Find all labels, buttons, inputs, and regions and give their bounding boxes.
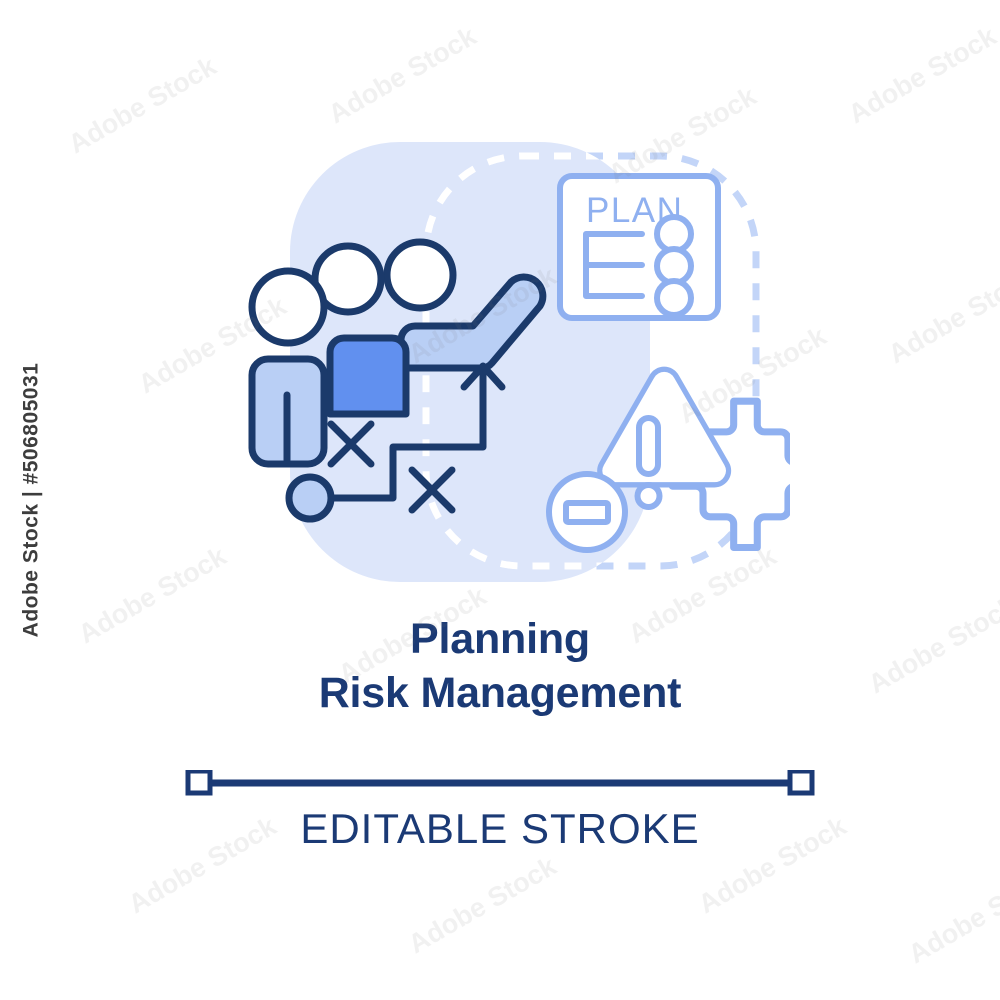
watermark-tile: Adobe Stock	[843, 21, 1000, 130]
watermark-tile: Adobe Stock	[883, 261, 1000, 370]
person-left-head	[252, 271, 324, 343]
watermark-tile: Adobe Stock	[63, 51, 221, 160]
minus-badge-bar	[566, 503, 608, 522]
editable-stroke-rule	[185, 770, 815, 796]
title-line-2: Risk Management	[0, 666, 1000, 720]
strategy-start-node	[289, 477, 331, 519]
plan-card-bullet-2	[657, 249, 691, 283]
title-line-1: Planning	[0, 612, 1000, 666]
plan-card-bullet-3	[657, 281, 691, 315]
stroke-rule-endpoint-left	[188, 771, 210, 793]
watermark-tile: Adobe Stock	[903, 861, 1000, 970]
person-middle-body	[330, 338, 406, 414]
warning-exclamation-dot	[638, 485, 660, 507]
watermark-tile: Adobe Stock	[403, 851, 561, 960]
concept-illustration: PLAN	[230, 130, 790, 600]
watermark-tile: Adobe Stock	[323, 21, 481, 130]
editable-stroke-label: EDITABLE STROKE	[0, 805, 1000, 853]
image-canvas: PLAN	[0, 0, 1000, 1000]
watermark-id-text: Adobe Stock | #506805031	[19, 363, 43, 638]
person-right-head	[387, 242, 453, 308]
concept-title: Planning Risk Management	[0, 612, 1000, 720]
stroke-rule-endpoint-right	[790, 771, 812, 793]
warning-exclamation-bar	[639, 418, 658, 474]
plan-card-bullet-1	[657, 217, 691, 251]
plan-card: PLAN	[560, 176, 718, 318]
